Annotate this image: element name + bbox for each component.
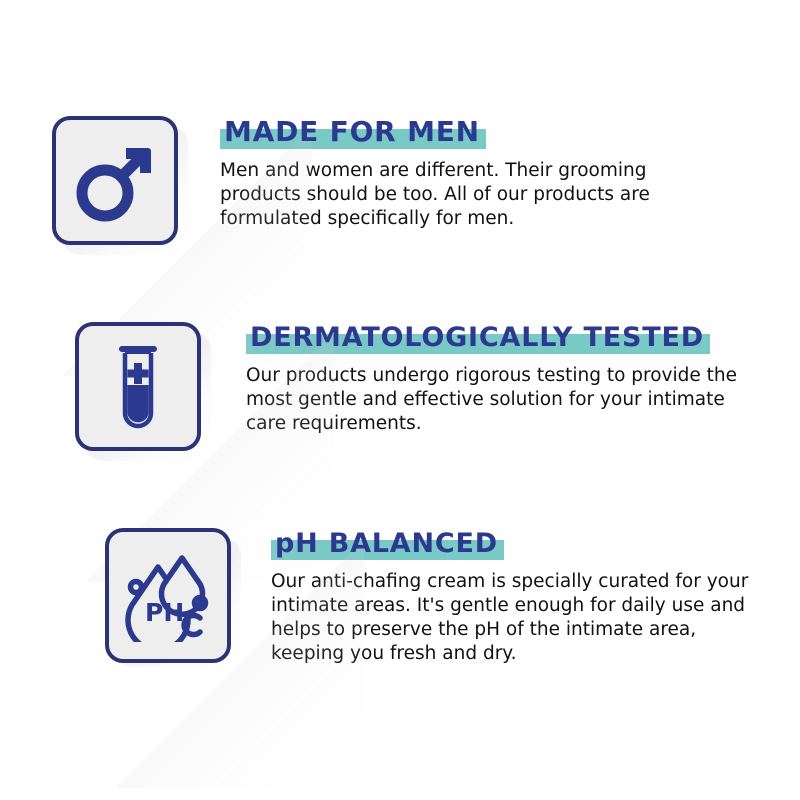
features-infographic: MADE FOR MEN Men and women are different… [0,0,800,800]
feature-heading: pH BALANCED [271,528,504,560]
icon-tile [52,116,178,245]
heading-label: DERMATOLOGICALLY TESTED [250,322,704,353]
icon-tile: PH [105,528,231,663]
heading-label: pH BALANCED [275,528,498,559]
svg-text:PH: PH [145,598,184,627]
icon-tile-wrapper: PH [105,528,231,663]
icon-tile [75,322,201,451]
feature-heading: MADE FOR MEN [220,116,486,149]
icon-tile-wrapper [52,116,178,245]
ph-water-droplet-icon: PH [121,550,215,642]
mars-male-symbol-icon [72,138,158,224]
feature-heading: DERMATOLOGICALLY TESTED [246,322,710,354]
test-tube-icon [103,341,173,433]
icon-tile-wrapper [75,322,201,451]
heading-label: MADE FOR MEN [224,115,480,148]
